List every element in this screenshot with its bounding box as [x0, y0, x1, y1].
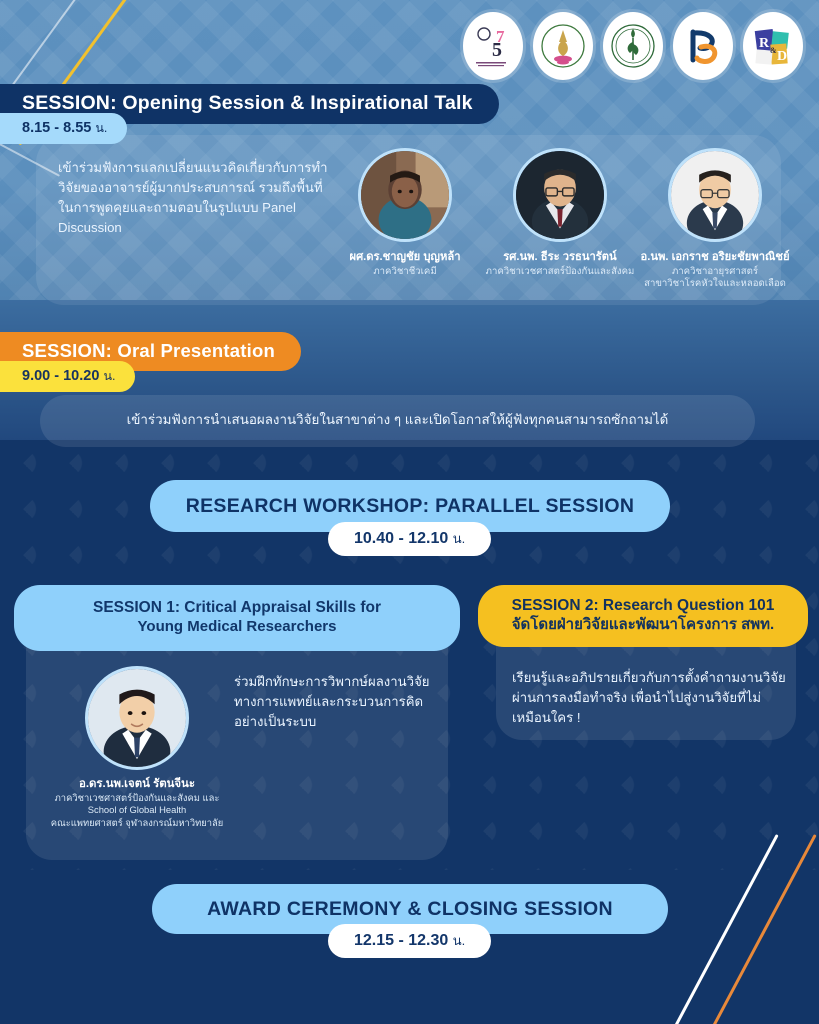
anniversary-75-logo: 7 5: [463, 12, 523, 80]
session-1-presenter: อ.ดร.นพ.เจตน์ รัตนจีนะ ภาควิชาเวชศาสตร์ป…: [34, 666, 240, 830]
speaker-name: อ.นพ. เอกราช อริยะชัยพาณิชย์: [640, 250, 790, 265]
avatar: [513, 148, 607, 242]
session-1-description: ร่วมฝึกทักษะการวิพากษ์ผลงานวิจัยทางการแพ…: [234, 672, 434, 731]
speaker-photo-1: [361, 151, 449, 239]
oral-session-time-pill: 9.00 - 10.20 น.: [0, 361, 135, 392]
opening-session-time-pill: 8.15 - 8.55 น.: [0, 113, 127, 144]
opening-session-description: เข้าร่วมฟังการแลกเปลี่ยนแนวคิดเกี่ยวกับก…: [58, 158, 328, 238]
closing-banner-time-text: 12.15 - 12.30: [354, 932, 448, 949]
session-2-header-line2: จัดโดยฝ่ายวิจัยและพัฒนาโครงการ สพท.: [512, 616, 774, 635]
closing-banner-title: AWARD CEREMONY & CLOSING SESSION: [207, 898, 613, 921]
oral-session-time-unit: น.: [103, 369, 115, 383]
speaker-card: ผศ.ดร.ชาญชัย บุญหล้า ภาควิชาชีวเคมี: [330, 148, 480, 291]
speaker-photo-3: [671, 151, 759, 239]
closing-banner-time: 12.15 - 12.30 น.: [328, 924, 491, 958]
avatar: [85, 666, 189, 770]
oral-session-time-text: 9.00 - 10.20: [22, 368, 99, 384]
opening-session-time-unit: น.: [95, 121, 107, 135]
session-1-header-line2: Young Medical Researchers: [138, 618, 337, 637]
r-curve-logo: [673, 12, 733, 80]
workshop-banner-time-text: 10.40 - 12.10: [354, 530, 448, 547]
speaker-name: รศ.นพ. ธีระ วรธนารัตน์: [485, 250, 635, 265]
workshop-banner-time-unit: น.: [453, 531, 466, 546]
speaker-card: อ.นพ. เอกราช อริยะชัยพาณิชย์ ภาควิชาอายุ…: [640, 148, 790, 291]
medical-faculty-logo: [603, 12, 663, 80]
svg-text:D: D: [777, 49, 787, 64]
r-and-d-icon: R D &: [750, 20, 796, 72]
session-2-header: SESSION 2: Research Question 101 จัดโดยฝ…: [478, 585, 808, 647]
oral-session-description: เข้าร่วมฟังการนำเสนอผลงานวิจัยในสาขาต่าง…: [40, 409, 755, 430]
medical-faculty-icon: [610, 20, 656, 72]
avatar: [358, 148, 452, 242]
session-2-description: เรียนรู้และอภิปรายเกี่ยวกับการตั้งคำถามง…: [512, 668, 788, 727]
presenter-department-line1: ภาควิชาเวชศาสตร์ป้องกันและสังคม และ: [34, 792, 240, 805]
r-curve-icon: [680, 20, 726, 72]
agenda-poster: 7 5: [0, 0, 819, 1024]
royal-crest-icon: [540, 20, 586, 72]
session-1-header-line1: SESSION 1: Critical Appraisal Skills for: [93, 599, 381, 618]
svg-text:R: R: [759, 36, 770, 51]
anniversary-75-icon: 7 5: [470, 20, 516, 72]
presenter-department-line3: คณะแพทยศาสตร์ จุฬาลงกรณ์มหาวิทยาลัย: [34, 817, 240, 830]
opening-session-speaker-list: ผศ.ดร.ชาญชัย บุญหล้า ภาควิชาชีวเคมี รศ.น…: [330, 148, 790, 291]
presenter-name: อ.ดร.นพ.เจตน์ รัตนจีนะ: [34, 777, 240, 792]
workshop-banner-time: 10.40 - 12.10 น.: [328, 522, 491, 556]
session-2-header-line1: SESSION 2: Research Question 101: [512, 597, 775, 616]
opening-session-time-text: 8.15 - 8.55: [22, 120, 91, 136]
avatar: [668, 148, 762, 242]
svg-text:5: 5: [492, 39, 502, 61]
speaker-photo-2: [516, 151, 604, 239]
closing-banner-time-unit: น.: [453, 933, 466, 948]
svg-text:&: &: [770, 46, 777, 55]
workshop-banner-title: RESEARCH WORKSHOP: PARALLEL SESSION: [186, 495, 635, 518]
speaker-card: รศ.นพ. ธีระ วรธนารัตน์ ภาควิชาเวชศาสตร์ป…: [485, 148, 635, 291]
speaker-name: ผศ.ดร.ชาญชัย บุญหล้า: [330, 250, 480, 265]
oral-session-time: 9.00 - 10.20 น.: [0, 361, 135, 392]
royal-crest-logo: [533, 12, 593, 80]
logo-row: 7 5: [463, 12, 803, 80]
speaker-department: ภาควิชาเวชศาสตร์ป้องกันและสังคม: [485, 266, 635, 279]
session-1-header: SESSION 1: Critical Appraisal Skills for…: [14, 585, 460, 651]
speaker-department: ภาควิชาอายุรศาสตร์ สาขาวิชาโรคหัวใจและหล…: [640, 266, 790, 291]
r-and-d-logo: R D &: [743, 12, 803, 80]
presenter-department-line2: School of Global Health: [34, 804, 240, 817]
speaker-department: ภาควิชาชีวเคมี: [330, 266, 480, 279]
presenter-photo: [88, 669, 186, 767]
opening-session-time: 8.15 - 8.55 น.: [0, 113, 127, 144]
